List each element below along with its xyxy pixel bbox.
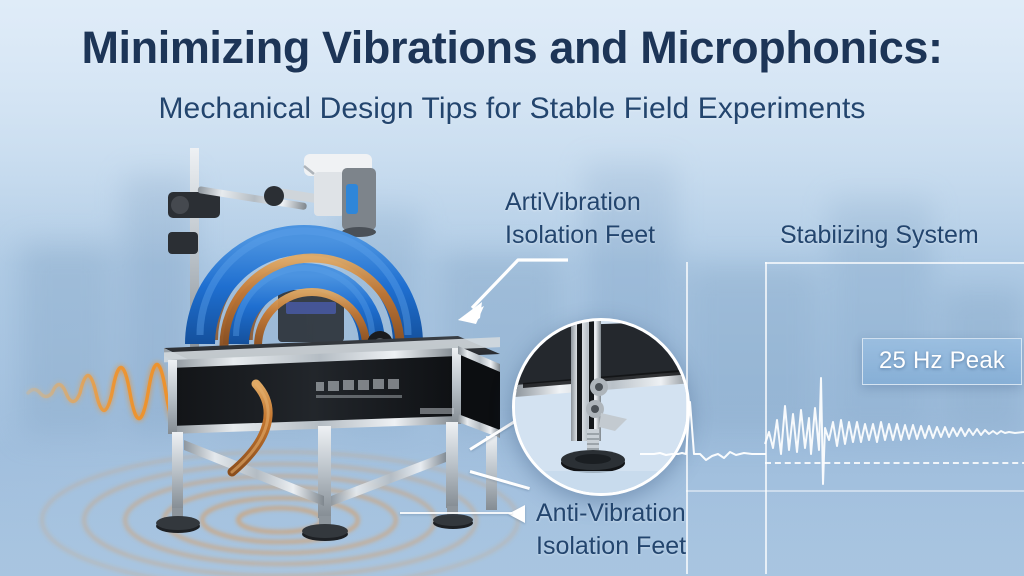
callout-bottom-leader bbox=[400, 512, 512, 514]
callout-bottom-arrow-icon bbox=[508, 505, 525, 523]
slide-canvas: Minimizing Vibrations and Microphonics: … bbox=[0, 0, 1024, 576]
callout-top-line1: ArtiVibration bbox=[505, 186, 655, 219]
waveform-panel bbox=[686, 262, 1024, 512]
page-title: Minimizing Vibrations and Microphonics: bbox=[0, 22, 1024, 74]
panel-bottom-rule bbox=[686, 490, 1024, 492]
callout-right-line1: Stabiizing System bbox=[780, 219, 979, 252]
waveform-baseline bbox=[765, 462, 1024, 464]
helmholtz-coil-apparatus bbox=[128, 140, 548, 560]
callout-anti-vibration-bottom: Anti-Vibration Isolation Feet bbox=[536, 497, 686, 563]
callout-anti-vibration-top: ArtiVibration Isolation Feet bbox=[505, 186, 655, 252]
callout-top-line2: Isolation Feet bbox=[505, 219, 655, 252]
isolation-foot bbox=[156, 508, 200, 533]
pre-isolation-trace bbox=[640, 382, 766, 492]
callout-bottom-line1: Anti-Vibration bbox=[536, 497, 686, 530]
panel-top-edge bbox=[765, 262, 1024, 264]
callout-stabilizing-system: Stabiizing System bbox=[780, 219, 979, 252]
page-subtitle: Mechanical Design Tips for Stable Field … bbox=[0, 92, 1024, 126]
isolation-foot bbox=[302, 516, 348, 541]
status-badge-frequency-peak: 25 Hz Peak bbox=[862, 338, 1022, 385]
callout-bottom-line2: Isolation Feet bbox=[536, 530, 686, 563]
isolation-foot bbox=[433, 506, 473, 529]
